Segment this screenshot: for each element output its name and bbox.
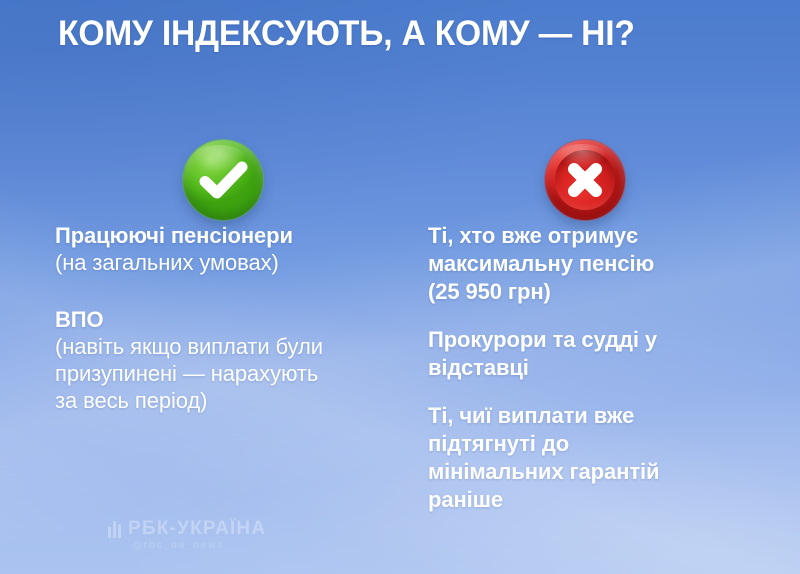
watermark-handle: @rbc_ua_news xyxy=(132,540,224,551)
red-cross-circle-icon xyxy=(545,140,625,220)
no-item-2-line-1: Прокурори та судді у xyxy=(428,326,778,354)
yes-item-2-note-line-1: (навіть якщо виплати були xyxy=(55,333,400,360)
infographic-canvas: КОМУ ІНДЕКСУЮТЬ, А КОМУ — НІ? Працюючі п… xyxy=(0,0,800,574)
watermark: РБК-УКРАЇНА xyxy=(108,519,266,539)
no-item-3-line-1: Ті, чиї виплати вже xyxy=(428,402,778,430)
red-icon-inner-well xyxy=(555,150,614,209)
watermark-brand: РБК-УКРАЇНА xyxy=(128,519,266,539)
page-title: КОМУ ІНДЕКСУЮТЬ, А КОМУ — НІ? xyxy=(58,14,730,54)
no-item-1-line-2: максимальну пенсію xyxy=(428,250,778,278)
spacer xyxy=(55,292,400,306)
list-item: Працюючі пенсіонери (на загальних умовах… xyxy=(55,222,400,276)
no-item-2-line-2: відставці xyxy=(428,354,778,382)
list-item: Ті, чиї виплати вже підтягнуті до мініма… xyxy=(428,402,778,514)
green-check-circle-icon xyxy=(183,140,263,220)
no-item-3-line-4: раніше xyxy=(428,486,778,514)
yes-item-2-note-line-2: призупинені — нарахують xyxy=(55,360,400,387)
no-item-3-line-3: мінімальних гарантій xyxy=(428,458,778,486)
yes-item-1-note: (на загальних умовах) xyxy=(55,249,400,276)
list-item: Ті, хто вже отримує максимальну пенсію (… xyxy=(428,222,778,306)
column-indexed-no: Ті, хто вже отримує максимальну пенсію (… xyxy=(428,130,778,534)
no-icon-wrap xyxy=(428,130,778,222)
no-item-1-line-1: Ті, хто вже отримує xyxy=(428,222,778,250)
rbc-logo-icon xyxy=(108,521,121,538)
yes-item-1-heading: Працюючі пенсіонери xyxy=(55,222,400,249)
list-item: Прокурори та судді у відставці xyxy=(428,326,778,382)
yes-item-2-note-line-3: за весь період) xyxy=(55,387,400,414)
no-item-3-line-2: підтягнуті до xyxy=(428,430,778,458)
no-item-1-line-3: (25 950 грн) xyxy=(428,278,778,306)
yes-icon-wrap xyxy=(55,130,400,222)
list-item: ВПО (навіть якщо виплати були призупинен… xyxy=(55,306,400,414)
column-indexed-yes: Працюючі пенсіонери (на загальних умовах… xyxy=(55,130,400,430)
yes-item-2-heading: ВПО xyxy=(55,306,400,333)
